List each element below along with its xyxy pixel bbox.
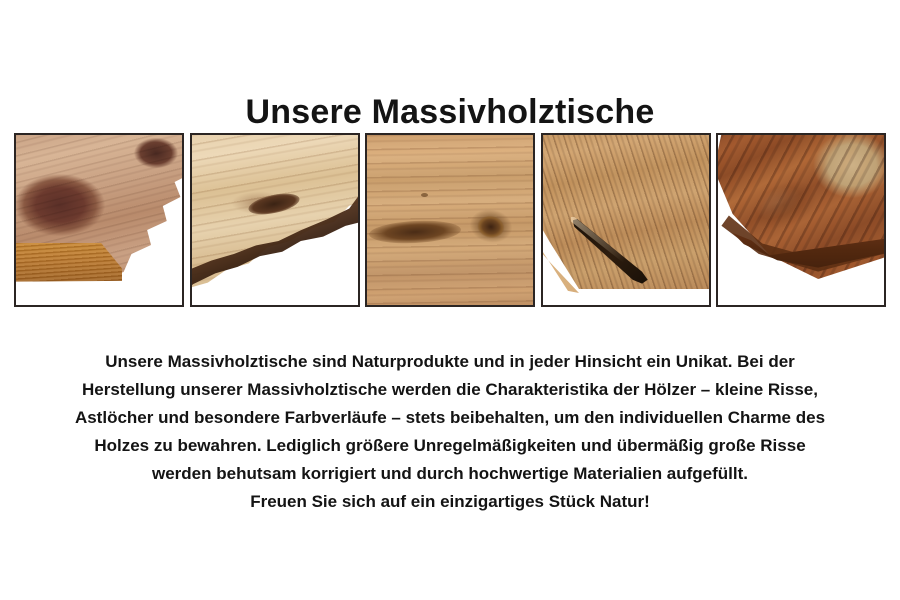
wood-image-gallery (14, 133, 886, 307)
paragraph-line: Unsere Massivholztische sind Naturproduk… (0, 348, 900, 376)
paragraph-line: Herstellung unserer Massivholztische wer… (0, 376, 900, 404)
gallery-image-3[interactable] (365, 133, 535, 307)
wood-photo-grain-closeup (367, 135, 533, 305)
gallery-image-5[interactable] (716, 133, 886, 307)
paragraph-line: Astlöcher und besondere Farbverläufe – s… (0, 404, 900, 432)
gallery-image-4[interactable] (541, 133, 711, 307)
wood-photo-burl-corner (16, 135, 182, 305)
gallery-image-1[interactable] (14, 133, 184, 307)
gallery-image-2[interactable] (190, 133, 360, 307)
page-root: Unsere Massivholztische (0, 0, 900, 600)
page-title: Unsere Massivholztische (0, 91, 900, 133)
paragraph-line: Holzes zu bewahren. Lediglich größere Un… (0, 432, 900, 460)
wood-photo-sheesham-corner (718, 135, 884, 305)
paragraph-line: werden behutsam korrigiert und durch hoc… (0, 460, 900, 488)
wood-edge-grain (16, 243, 122, 287)
wood-photo-sawn-crack (543, 135, 709, 305)
paragraph-line: Freuen Sie sich auf ein einzigartiges St… (0, 488, 900, 516)
description-paragraph: Unsere Massivholztische sind Naturproduk… (0, 348, 900, 516)
wood-photo-live-edge (192, 135, 358, 305)
wood-speck (421, 193, 428, 197)
